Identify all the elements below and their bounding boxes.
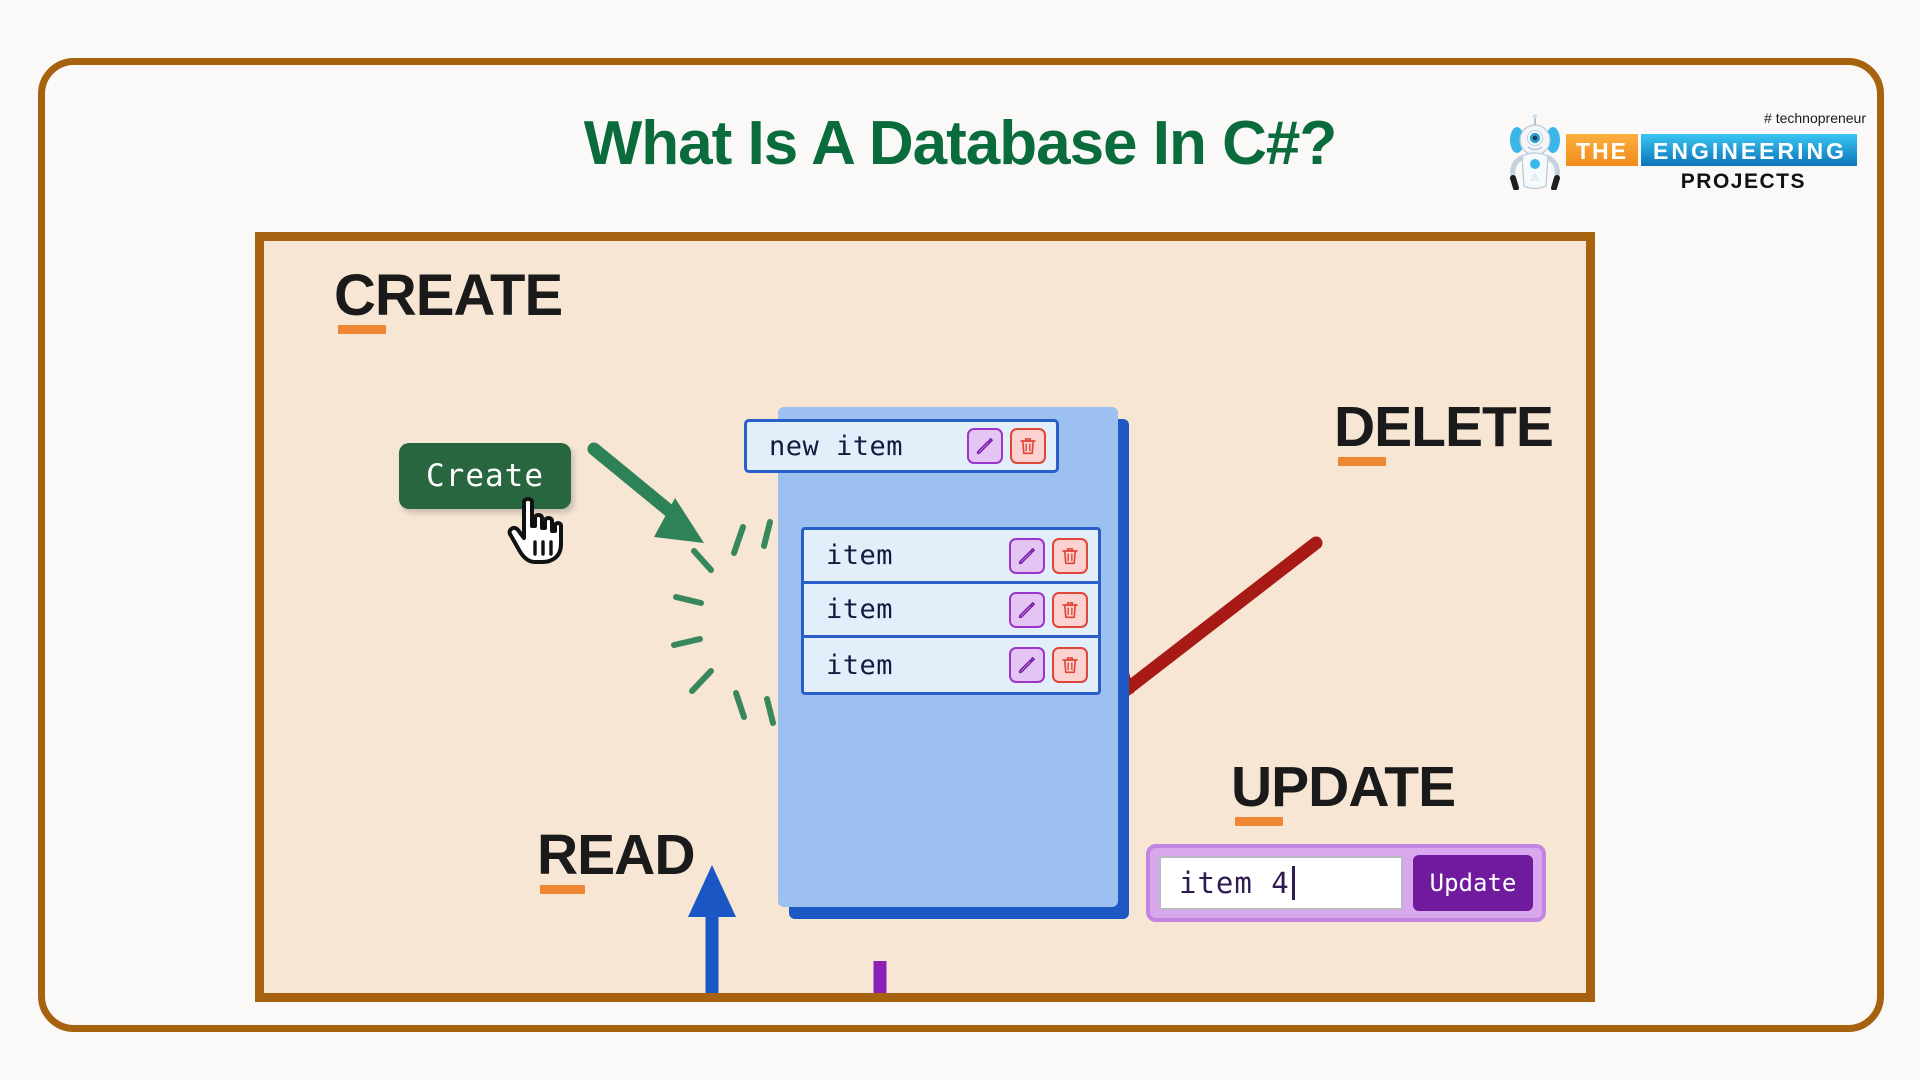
row-actions [1009, 647, 1088, 683]
crud-diagram-panel: CREATE Create DELETE READ UPDATE new ite… [255, 232, 1595, 1002]
trash-delete-icon[interactable] [1010, 428, 1046, 464]
update-arrow-icon [880, 961, 1012, 1002]
update-text-input[interactable]: item 4 [1159, 856, 1403, 910]
pencil-edit-icon[interactable] [1009, 538, 1045, 574]
label-delete: DELETE [1334, 399, 1553, 456]
text-caret [1292, 866, 1295, 900]
list-row[interactable]: item [804, 584, 1098, 638]
list-row-label: item [826, 594, 1009, 625]
label-update-underline [1235, 817, 1283, 826]
list-row-label: item [826, 540, 1009, 571]
list-row-label: new item [769, 431, 967, 462]
pencil-edit-icon[interactable] [1009, 647, 1045, 683]
trash-delete-icon[interactable] [1052, 592, 1088, 628]
row-actions [1009, 538, 1088, 574]
label-create: CREATE [334, 267, 562, 325]
list-row-new-item[interactable]: new item [744, 419, 1059, 473]
list-row[interactable]: item [804, 638, 1098, 692]
label-read-underline [540, 885, 585, 894]
row-actions [1009, 592, 1088, 628]
update-widget: item 4 Update [1146, 844, 1546, 922]
label-create-underline [338, 325, 386, 334]
sparkle-icon [674, 522, 773, 723]
trash-delete-icon[interactable] [1052, 538, 1088, 574]
row-actions [967, 428, 1046, 464]
update-input-value: item 4 [1179, 866, 1290, 900]
update-button[interactable]: Update [1413, 855, 1533, 911]
list-row-label: item [826, 650, 1009, 681]
label-delete-underline [1338, 457, 1386, 466]
pencil-edit-icon[interactable] [1009, 592, 1045, 628]
list-row[interactable]: item [804, 530, 1098, 584]
create-arrow-icon [594, 449, 704, 543]
trash-delete-icon[interactable] [1052, 647, 1088, 683]
list-rows-group: item item [801, 527, 1101, 695]
pencil-edit-icon[interactable] [967, 428, 1003, 464]
label-update: UPDATE [1231, 759, 1455, 816]
pointing-hand-cursor-icon [506, 496, 566, 566]
label-read: READ [537, 827, 695, 884]
